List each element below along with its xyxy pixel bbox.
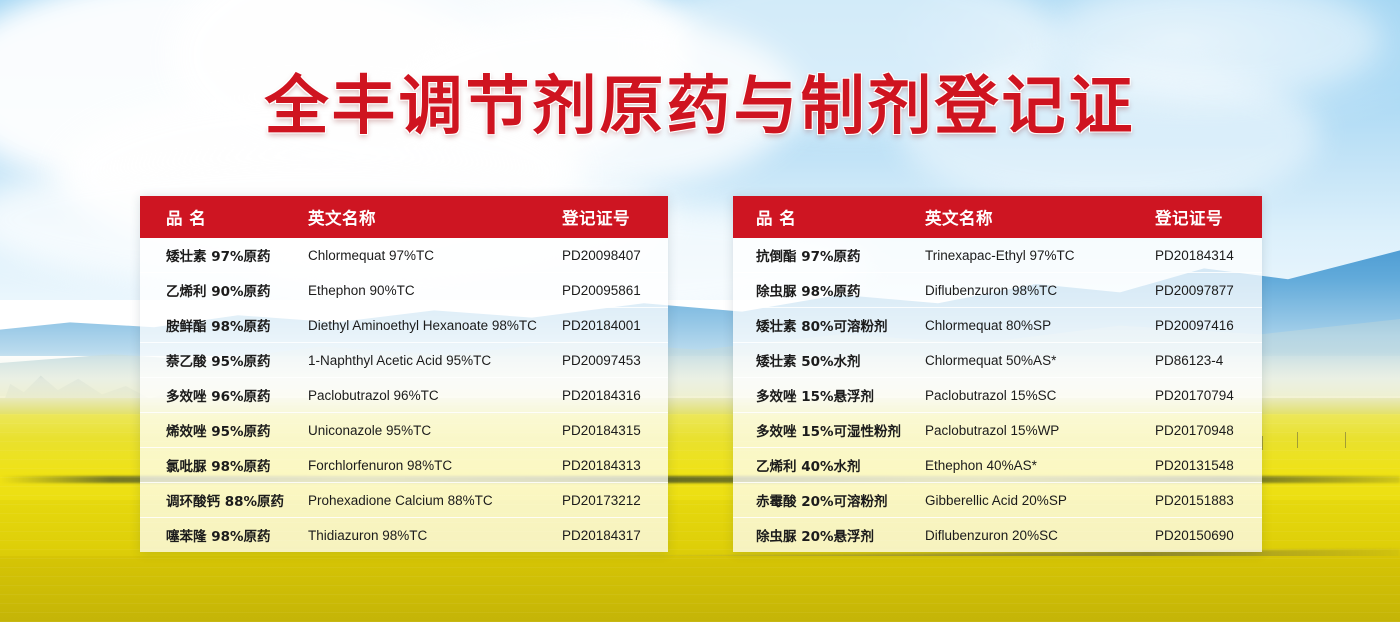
table-row: 噻苯隆 98%原药Thidiazuron 98%TCPD20184317	[140, 517, 668, 552]
cell-product-name: 赤霉酸 20%可溶粉剂	[733, 490, 925, 510]
table-row: 调环酸钙 88%原药Prohexadione Calcium 88%TCPD20…	[140, 482, 668, 517]
cell-product-name: 多效唑 96%原药	[140, 385, 308, 405]
cell-product-name: 噻苯隆 98%原药	[140, 525, 308, 545]
table-row: 矮壮素 50%水剂Chlormequat 50%AS*PD86123-4	[733, 342, 1262, 377]
table-row: 赤霉酸 20%可溶粉剂Gibberellic Acid 20%SPPD20151…	[733, 482, 1262, 517]
cell-product-name: 乙烯利 40%水剂	[733, 455, 925, 475]
cell-english-name: Paclobutrazol 15%SC	[925, 388, 1155, 403]
cell-english-name: Forchlorfenuron 98%TC	[308, 458, 562, 473]
cell-english-name: 1-Naphthyl Acetic Acid 95%TC	[308, 353, 562, 368]
cell-english-name: Chlormequat 80%SP	[925, 318, 1155, 333]
cell-english-name: Chlormequat 97%TC	[308, 248, 562, 263]
column-header-english-name: 英文名称	[925, 205, 1155, 229]
column-header-product-name: 品 名	[733, 205, 925, 229]
cell-registration-no: PD20184313	[562, 458, 668, 473]
cell-english-name: Ethephon 40%AS*	[925, 458, 1155, 473]
cell-registration-no: PD20184315	[562, 423, 668, 438]
cell-english-name: Prohexadione Calcium 88%TC	[308, 493, 562, 508]
cell-registration-no: PD20184317	[562, 528, 668, 543]
cell-registration-no: PD20184314	[1155, 248, 1262, 263]
cell-english-name: Gibberellic Acid 20%SP	[925, 493, 1155, 508]
table-row: 矮壮素 80%可溶粉剂Chlormequat 80%SPPD20097416	[733, 307, 1262, 342]
cell-english-name: Uniconazole 95%TC	[308, 423, 562, 438]
cell-registration-no: PD20151883	[1155, 493, 1262, 508]
cell-product-name: 矮壮素 80%可溶粉剂	[733, 315, 925, 335]
cell-product-name: 多效唑 15%可湿性粉剂	[733, 420, 925, 440]
cell-product-name: 萘乙酸 95%原药	[140, 350, 308, 370]
cell-english-name: Paclobutrazol 15%WP	[925, 423, 1155, 438]
cell-english-name: Trinexapac-Ethyl 97%TC	[925, 248, 1155, 263]
cell-product-name: 氯吡脲 98%原药	[140, 455, 308, 475]
table-row: 胺鲜酯 98%原药Diethyl Aminoethyl Hexanoate 98…	[140, 307, 668, 342]
cell-registration-no: PD20184316	[562, 388, 668, 403]
table-row: 乙烯利 90%原药Ethephon 90%TCPD20095861	[140, 272, 668, 307]
cell-registration-no: PD20170948	[1155, 423, 1262, 438]
cell-english-name: Diethyl Aminoethyl Hexanoate 98%TC	[308, 318, 562, 333]
cell-registration-no: PD20131548	[1155, 458, 1262, 473]
cell-registration-no: PD20097877	[1155, 283, 1262, 298]
column-header-registration-no: 登记证号	[1155, 205, 1262, 229]
cell-english-name: Diflubenzuron 20%SC	[925, 528, 1155, 543]
table-header-row: 品 名 英文名称 登记证号	[733, 196, 1262, 238]
cell-english-name: Ethephon 90%TC	[308, 283, 562, 298]
cell-english-name: Chlormequat 50%AS*	[925, 353, 1155, 368]
cell-product-name: 多效唑 15%悬浮剂	[733, 385, 925, 405]
table-header-row: 品 名 英文名称 登记证号	[140, 196, 668, 238]
cell-product-name: 烯效唑 95%原药	[140, 420, 308, 440]
cell-registration-no: PD20095861	[562, 283, 668, 298]
table-row: 除虫脲 20%悬浮剂Diflubenzuron 20%SCPD20150690	[733, 517, 1262, 552]
cell-registration-no: PD86123-4	[1155, 353, 1262, 368]
table-row: 萘乙酸 95%原药1-Naphthyl Acetic Acid 95%TCPD2…	[140, 342, 668, 377]
cell-registration-no: PD20098407	[562, 248, 668, 263]
table-row: 氯吡脲 98%原药Forchlorfenuron 98%TCPD20184313	[140, 447, 668, 482]
table-row: 乙烯利 40%水剂Ethephon 40%AS*PD20131548	[733, 447, 1262, 482]
cell-product-name: 乙烯利 90%原药	[140, 280, 308, 300]
column-header-registration-no: 登记证号	[562, 205, 668, 229]
cell-registration-no: PD20097453	[562, 353, 668, 368]
cell-product-name: 抗倒酯 97%原药	[733, 245, 925, 265]
cell-registration-no: PD20097416	[1155, 318, 1262, 333]
cell-english-name: Paclobutrazol 96%TC	[308, 388, 562, 403]
cell-product-name: 除虫脲 20%悬浮剂	[733, 525, 925, 545]
cell-registration-no: PD20173212	[562, 493, 668, 508]
cell-product-name: 矮壮素 50%水剂	[733, 350, 925, 370]
cell-product-name: 调环酸钙 88%原药	[140, 490, 308, 510]
table-row: 多效唑 15%可湿性粉剂Paclobutrazol 15%WPPD2017094…	[733, 412, 1262, 447]
table-row: 抗倒酯 97%原药Trinexapac-Ethyl 97%TCPD2018431…	[733, 238, 1262, 272]
table-body-right: 抗倒酯 97%原药Trinexapac-Ethyl 97%TCPD2018431…	[733, 238, 1262, 552]
column-header-english-name: 英文名称	[308, 205, 562, 229]
table-row: 除虫脲 98%原药Diflubenzuron 98%TCPD20097877	[733, 272, 1262, 307]
table-row: 矮壮素 97%原药Chlormequat 97%TCPD20098407	[140, 238, 668, 272]
registration-table-left: 品 名 英文名称 登记证号 矮壮素 97%原药Chlormequat 97%TC…	[140, 196, 668, 552]
cell-product-name: 除虫脲 98%原药	[733, 280, 925, 300]
table-row: 烯效唑 95%原药Uniconazole 95%TCPD20184315	[140, 412, 668, 447]
cell-product-name: 矮壮素 97%原药	[140, 245, 308, 265]
cell-english-name: Diflubenzuron 98%TC	[925, 283, 1155, 298]
poster-stage: 全丰调节剂原药与制剂登记证 品 名 英文名称 登记证号 矮壮素 97%原药Chl…	[0, 0, 1400, 622]
registration-table-right: 品 名 英文名称 登记证号 抗倒酯 97%原药Trinexapac-Ethyl …	[733, 196, 1262, 552]
table-row: 多效唑 96%原药Paclobutrazol 96%TCPD20184316	[140, 377, 668, 412]
registration-tables: 品 名 英文名称 登记证号 矮壮素 97%原药Chlormequat 97%TC…	[0, 0, 1400, 622]
table-row: 多效唑 15%悬浮剂Paclobutrazol 15%SCPD20170794	[733, 377, 1262, 412]
column-header-product-name: 品 名	[140, 205, 308, 229]
cell-registration-no: PD20150690	[1155, 528, 1262, 543]
cell-product-name: 胺鲜酯 98%原药	[140, 315, 308, 335]
table-body-left: 矮壮素 97%原药Chlormequat 97%TCPD20098407乙烯利 …	[140, 238, 668, 552]
cell-registration-no: PD20170794	[1155, 388, 1262, 403]
cell-registration-no: PD20184001	[562, 318, 668, 333]
cell-english-name: Thidiazuron 98%TC	[308, 528, 562, 543]
